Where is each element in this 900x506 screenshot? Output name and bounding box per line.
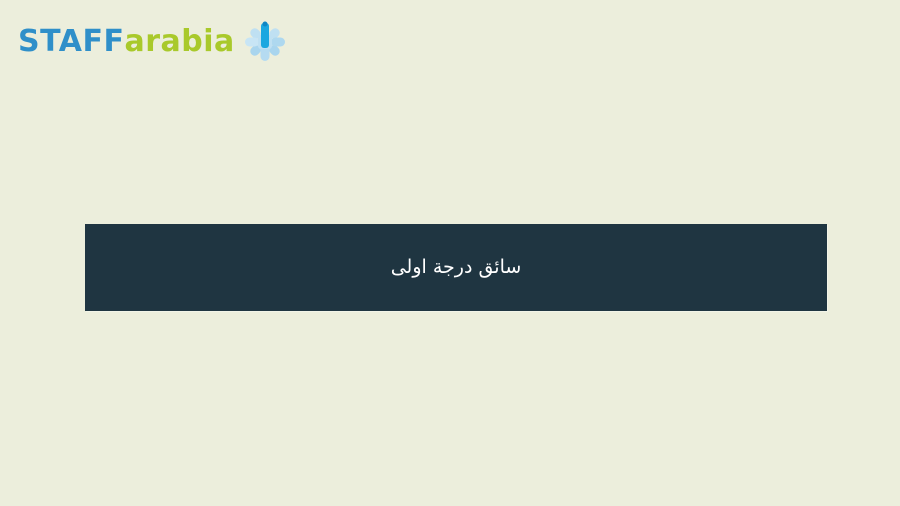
staffarabia-logo[interactable]: STAFFarabia	[18, 18, 287, 66]
logo-word-arabia: arabia	[124, 27, 234, 57]
snowflake-asterisk-icon	[243, 20, 287, 64]
logo-word-staff: STAFF	[18, 27, 124, 57]
logo-wordmark: STAFFarabia	[18, 27, 235, 57]
slide-title: سائق درجة اولى	[379, 254, 534, 281]
title-banner: سائق درجة اولى	[85, 224, 827, 311]
presentation-slide: STAFFarabia سائق درجة اولى	[0, 0, 900, 506]
